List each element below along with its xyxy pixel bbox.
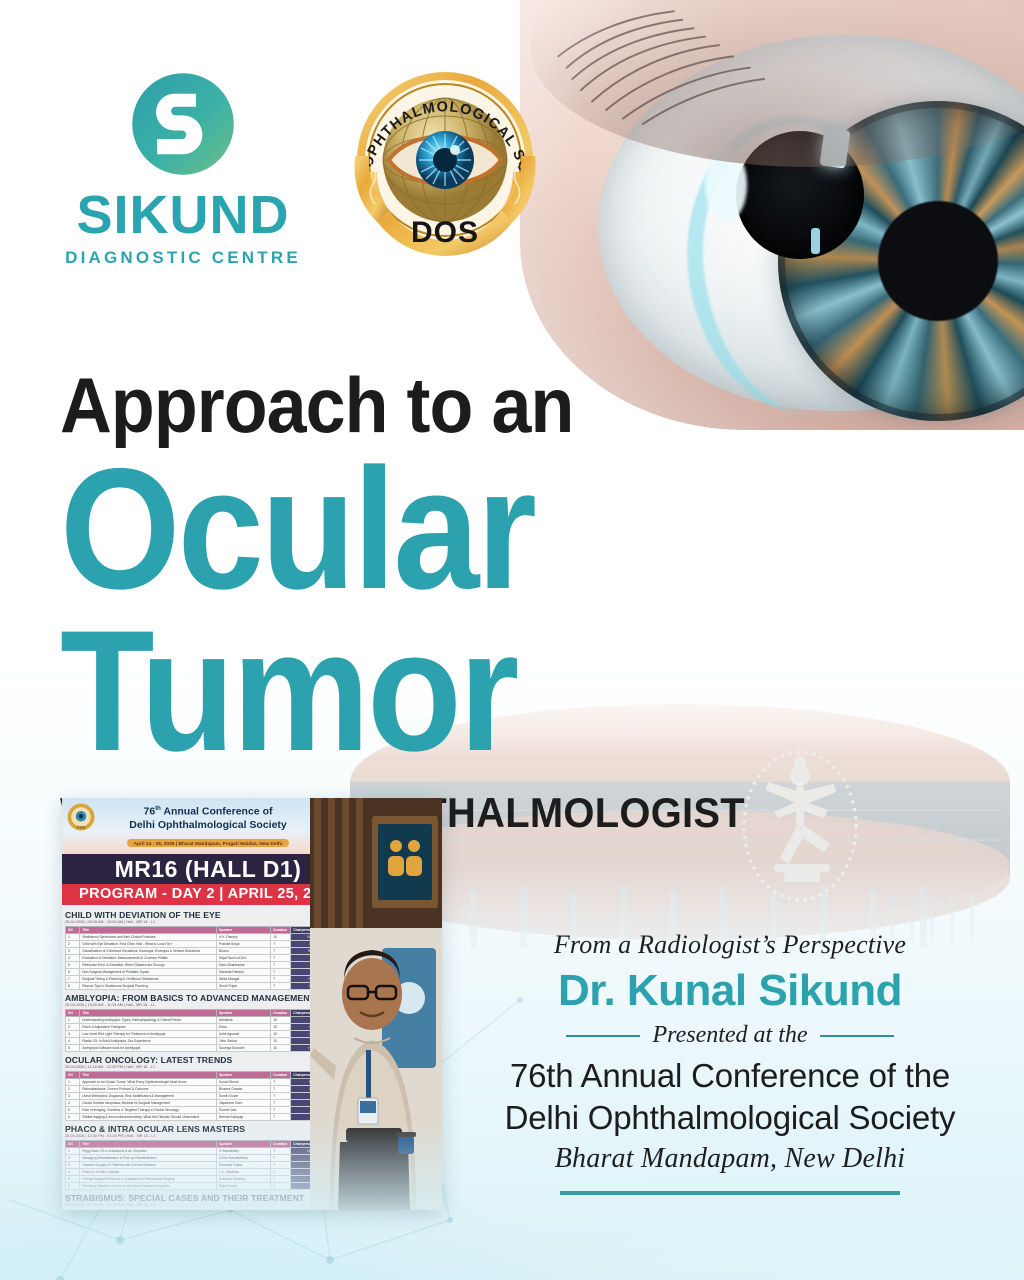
session-row: 3Cataract Surgery in Patients with Corne… [66,1161,351,1168]
session-cell: 5 [66,1044,80,1051]
speaker-details-block: From a Radiologist’s Perspective Dr. Kun… [452,930,1008,1195]
session-cell: 7 [271,1154,291,1161]
session-meta: 25-04-2026 | 08:45 AM - 10:00 AM | Hall … [65,920,351,924]
session-row: 3Low Level Red Light Therapy for Treatme… [66,1030,351,1037]
session-cell: 7 [271,1092,291,1099]
session-cell: 2 [66,1154,80,1161]
session-cell: Amblyopia Software tools for Amblyopia [80,1044,217,1051]
session-cell: Child with Eye Deviation: First Clinic V… [80,940,217,947]
session-column-header: Title [80,1140,217,1147]
session-meta: 25-04-2026 | 01:30 PM - 02:30 PM | Hall … [65,1203,351,1207]
session-cell: Ocular Surface Neoplasia: Medical vs Sur… [80,1099,217,1106]
session-cell: 1 [66,1016,80,1023]
session-row: 1Piggy Back IOLs: Indications & an Overv… [66,1147,351,1154]
session-cell: 7 [271,1085,291,1092]
session-meta: 25-04-2026 | 11:15 AM - 12:30 PM | Hall … [65,1065,351,1069]
session-row: 5Role of Imaging, Genetics & Targeted Th… [66,1106,351,1113]
session-meta: 25-04-2026 | 10:00 AM - 11:15 AM | Hall … [65,1003,351,1007]
session-column-header: Duration [271,1009,291,1016]
session-cell: 2 [66,940,80,947]
board-conference-ordinal: 76 [144,806,156,818]
session-row: 2Patch & Adjunctive TherapiesEsha15Co-Ch… [66,1023,351,1030]
session-column-header: SN [66,926,80,933]
session-table: SNTitleSpeakerDurationChairperson1Approa… [65,1071,351,1121]
session-column-header: Duration [271,1071,291,1078]
session-cell: 2 [66,1085,80,1092]
session-cell: Sumit Grover [217,1092,271,1099]
poster-canvas: SIKUND DIAGNOSTIC CENTRE [0,0,1024,1280]
sikund-tagline: DIAGNOSTIC CENTRE [58,248,308,268]
session-row: 4Plastic IOL in Adult Amblyopia: Our Exp… [66,1037,351,1044]
session-cell: Nitika Mangal [217,975,271,982]
session-meta: 25-04-2026 | 12:30 PM - 01:30 PM | Hall … [65,1134,351,1138]
svg-text:DOS: DOS [77,825,86,829]
session-cell: 2 [66,1023,80,1030]
session-cell: 5 [66,1106,80,1113]
session-cell: Plastic IOL in Adult Amblyopia: Our Expe… [80,1037,217,1044]
session-cell: Uveal Melanoma: Diagnosis, Risk Stratifi… [80,1092,217,1099]
session-cell: Bhavna Chawla [217,1085,271,1092]
session-row: 4Ocular Surface Neoplasia: Medical vs Su… [66,1099,351,1106]
session-cell: Chitra Ramakrishny [217,1154,271,1161]
session-table-header-row: SNTitleSpeakerDurationChairperson [66,1140,351,1147]
session-cell: H.K. Pandey [217,933,271,940]
session-cell: 7 [271,1175,291,1182]
session-cell: Elevating Standard of Care in Monofocal … [80,1182,217,1189]
session-table: SNTitleSpeakerDurationChairperson1Unders… [65,1009,351,1052]
session-cell: 15 [271,1023,291,1030]
session-column-header: Speaker [217,1071,271,1078]
session-cell: 6 [66,968,80,975]
dos-acronym: DOS [411,216,479,249]
session-row: 2Retinoblastoma: Current Protocol & Outc… [66,1085,351,1092]
session-cell: 4 [66,1099,80,1106]
session-row: 1Approach to an Ocular Tumor: What Every… [66,1078,351,1085]
session-cell: Hans Bhandarkar [217,961,271,968]
session-cell: Refractive Error & Deviation: When Glass… [80,961,217,968]
session-cell: Bhanu [217,947,271,954]
speaker-name: Dr. Kunal Sikund [452,966,1008,1016]
session-column-header: Duration [271,926,291,933]
session-cell: Shruti Pujari [217,982,271,989]
session-cell: 7 [271,982,291,989]
session-cell: 4 [66,1168,80,1175]
sikund-wordmark: SIKUND [58,188,308,242]
session-table: SNTitleSpeakerDurationChairperson1Piggy … [65,1140,351,1190]
session-cell: 7 [271,961,291,968]
session-row: 7Surgical Timing & Planning in Childhood… [66,975,351,982]
dos-emblem-icon: DELHI OPHTHALMOLOGICAL SOCIETY DOS [345,60,545,265]
session-row: 6Elevating Standard of Care in Monofocal… [66,1182,351,1189]
speaker-perspective: From a Radiologist’s Perspective [452,930,1008,960]
session-title: OCULAR ONCOLOGY: LATEST TRENDS [65,1055,351,1065]
session-cell: Patch & Adjunctive Therapies [80,1023,217,1030]
session-cell: Approach to an Ocular Tumor: What Every … [80,1078,217,1085]
session-cell: John Sarkar [217,1037,271,1044]
session-cell: Managing Dissatisfaction & Post-op Dissa… [80,1154,217,1161]
session-cell: Rajat Rani Lal Dev [217,954,271,961]
session-cell: L.C. Wadhwa [217,1168,271,1175]
session-cell: 1 [66,933,80,940]
presented-at-label: Presented at the [652,1022,807,1049]
session-column-header: SN [66,1140,80,1147]
session-cell: Understanding Amblyopia: Types, Pathophy… [80,1016,217,1023]
session-row: 6Orbital Imaging & Immunohistochemistry:… [66,1113,351,1120]
session-row: 1Strabismus Syndromes and their Clinical… [66,933,351,940]
speaker-portrait-illustration [310,798,442,1210]
session-cell: 7 [271,968,291,975]
session-cell: 3 [66,1092,80,1099]
session-row: 5Driving Surgical Efficiency in Cataract… [66,1175,351,1182]
session-cell: Classification of Childhood Deviations: … [80,947,217,954]
session-row: 4Phaco in Uveitic CataractL.C. Wadhwa7Mo… [66,1168,351,1175]
session-cell: 6 [66,1182,80,1189]
presented-rule-right [820,1035,894,1037]
session-table-header-row: SNTitleSpeakerDurationChairperson [66,1009,351,1016]
session-cell: 4 [66,1037,80,1044]
session-cell: 7 [271,1147,291,1154]
session-cell: 7 [271,1168,291,1175]
session-cell: Seema Kashyap [217,1113,271,1120]
photo-card-inner: DOS DOS 76th Annual Conference of Delhi … [62,798,442,1210]
session-cell: 5 [66,961,80,968]
session-cell: Phaco in Uveitic Cataract [80,1168,217,1175]
session-column-header: SN [66,1071,80,1078]
session-cell: Evaluation of Deviation: Measurements & … [80,954,217,961]
session-cell: 7 [66,975,80,982]
session-cell: 7 [271,1182,291,1189]
session-cell: Ankit Agrawal [217,1030,271,1037]
session-row: 5Amblyopia Software tools for AmblyopiaS… [66,1044,351,1051]
session-cell: Retinoblastoma: Current Protocol & Outco… [80,1085,217,1092]
session-cell: 10 [271,933,291,940]
session-cell: 7 [271,1078,291,1085]
session-cell: 7 [271,954,291,961]
board-conference-dates: April 24 - 26, 2026 | Bharat Mandapam, P… [127,839,290,847]
sikund-logo: SIKUND DIAGNOSTIC CENTRE [58,70,308,268]
session-cell: 10 [271,1030,291,1037]
session-cell: Puneet Jain [217,1106,271,1113]
session-cell: Manisha Pandey [217,968,271,975]
speaker-photo-card: DOS DOS 76th Annual Conference of Delhi … [62,798,442,1210]
session-cell: Driving Surgical Efficiency in Cataract … [80,1175,217,1182]
session-column-header: SN [66,1009,80,1016]
session-cell: Piggy Back IOLs: Indications & an Overvi… [80,1147,217,1154]
session-cell: 7 [271,940,291,947]
board-conference-title: 76th Annual Conference of Delhi Ophthalm… [66,803,350,832]
board-conference-title-line-1: Annual Conference of [163,806,272,818]
session-cell: Rescue Tips in Strabismus Surgical Plann… [80,982,217,989]
session-row: 1Understanding Amblyopia: Types, Pathoph… [66,1016,351,1023]
session-cell: 8 [66,982,80,989]
session-cell: Jayashree Dore [217,1099,271,1106]
session-cell: 3 [66,947,80,954]
session-cell: Soumya Sourabh [217,1044,271,1051]
session-cell: 7 [271,947,291,954]
session-cell: Non-Surgical Management of Pediatric Squ… [80,968,217,975]
session-cell: 4 [66,954,80,961]
session-table-header-row: SNTitleSpeakerDurationChairperson [66,1071,351,1078]
conference-name: 76th Annual Conference of the Delhi Opht… [452,1055,1008,1139]
session-cell: 7 [271,1106,291,1113]
headline-line-2: Ocular Tumor [60,448,870,772]
session-cell: 1 [66,1078,80,1085]
session-table: SNTitleSpeakerDurationChairperson1Strabi… [65,926,351,990]
session-column-header: Speaker [217,1009,271,1016]
session-row: 8Rescue Tips in Strabismus Surgical Plan… [66,982,351,989]
conference-venue: Bharat Mandapam, New Delhi [452,1143,1008,1175]
session-title: STRABISMUS: SPECIAL CASES AND THEIR TREA… [65,1193,351,1203]
session-cell: Cataract Surgery in Patients with Cornea… [80,1161,217,1168]
session-column-header: Title [80,1071,217,1078]
conference-name-line-1: 76th Annual Conference of the [452,1055,1008,1097]
session-column-header: Duration [271,1140,291,1147]
session-cell: 7 [271,1113,291,1120]
speaker-portrait [310,798,442,1210]
session-cell: Sandeep Gupta [217,1161,271,1168]
session-row: 2Child with Eye Deviation: First Clinic … [66,940,351,947]
session-cell: 7 [271,1099,291,1106]
session-title: CHILD WITH DEVIATION OF THE EYE [65,910,351,920]
session-cell: Subhash Sharma [217,1175,271,1182]
dos-seal-left-icon: DOS [66,802,96,832]
session-column-header: Title [80,926,217,933]
session-row: 2Managing Dissatisfaction & Post-op Diss… [66,1154,351,1161]
session-cell: 15 [271,1016,291,1023]
board-conference-title-line-2: Delhi Ophthalmological Society [129,819,287,831]
session-cell: Surgical Timing & Planning in Childhood … [80,975,217,982]
sikund-s-monogram-icon [129,70,237,178]
session-title: AMBLYOPIA: FROM BASICS TO ADVANCED MANAG… [65,993,351,1003]
session-table-header-row: SNTitleSpeakerDurationChairperson [66,926,351,933]
session-cell: Orbital Imaging & Immunohistochemistry: … [80,1113,217,1120]
session-cell: 6 [66,1113,80,1120]
presented-at-row: Presented at the [452,1022,1008,1049]
session-cell: Low Level Red Light Therapy for Treatmen… [80,1030,217,1037]
session-cell: Esha [217,1023,271,1030]
session-column-header: Speaker [217,926,271,933]
session-cell: 3 [66,1030,80,1037]
session-cell: S Ramabothy [217,1147,271,1154]
session-cell: Pramila Singh [217,940,271,947]
session-cell: 7 [271,1161,291,1168]
conference-name-line-2: Delhi Ophthalmological Society [452,1097,1008,1139]
eye-highlight-secondary [811,228,820,254]
session-cell: 5 [66,1175,80,1182]
session-column-header: Title [80,1009,217,1016]
session-cell: Abhishek [217,1016,271,1023]
session-row: 5Refractive Error & Deviation: When Glas… [66,961,351,968]
session-title: PHACO & INTRA OCULAR LENS MASTERS [65,1124,351,1134]
session-cell: Strabismus Syndromes and their Clinical … [80,933,217,940]
session-row: 3Uveal Melanoma: Diagnosis, Risk Stratif… [66,1092,351,1099]
presented-rule-left [566,1035,640,1037]
session-cell: Kunal Sikund [217,1078,271,1085]
session-cell: Role of Imaging, Genetics & Targeted The… [80,1106,217,1113]
session-cell: 10 [271,1044,291,1051]
session-row: 3Classification of Childhood Deviations:… [66,947,351,954]
session-cell: 10 [271,1037,291,1044]
session-row: 4Evaluation of Deviation: Measurements &… [66,954,351,961]
session-cell: 3 [66,1161,80,1168]
session-row: 6Non-Surgical Management of Pediatric Sq… [66,968,351,975]
session-cell: 7 [271,975,291,982]
bottom-divider [560,1191,900,1195]
session-column-header: Speaker [217,1140,271,1147]
board-conference-ordinal-suffix: th [155,806,161,812]
session-cell: Rajat Gupta [217,1182,271,1189]
session-cell: 1 [66,1147,80,1154]
eyelashes [520,0,867,139]
